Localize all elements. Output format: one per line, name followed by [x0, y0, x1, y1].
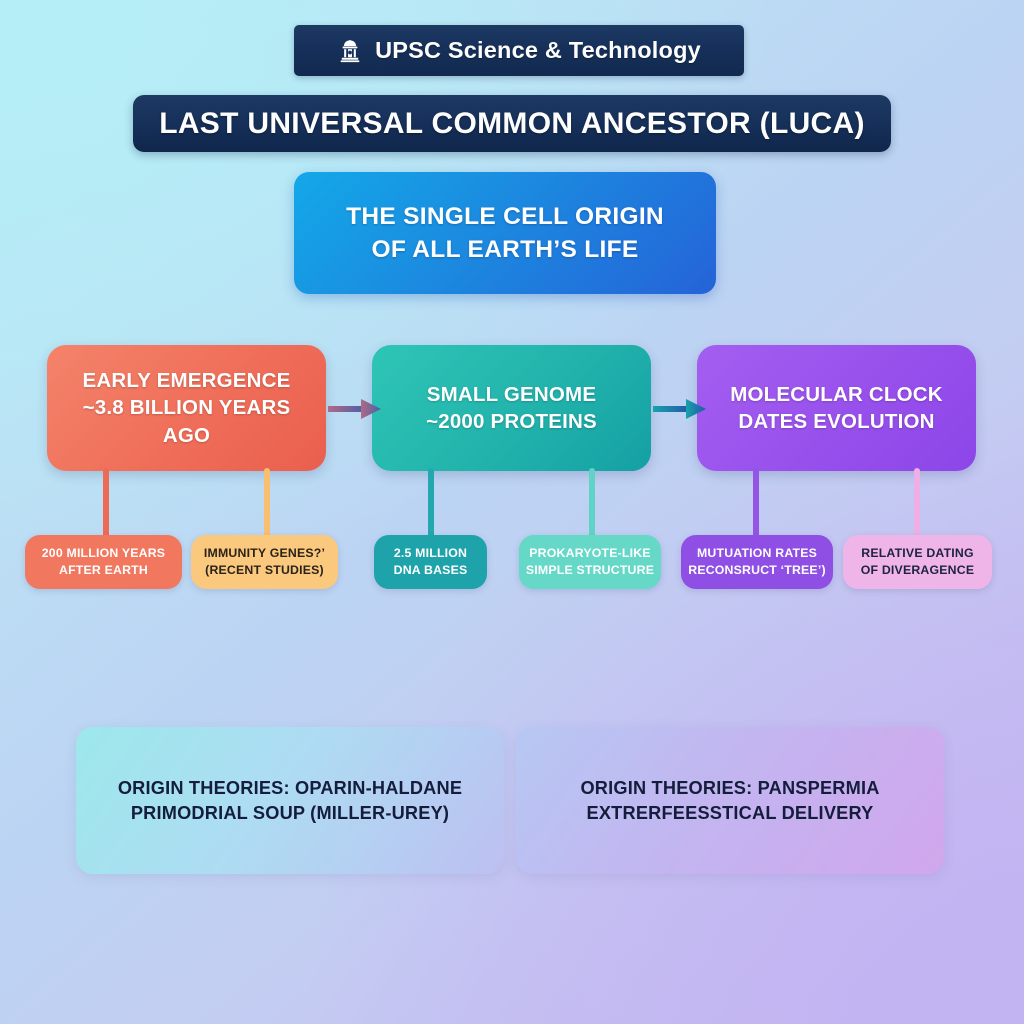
detail-card-mutation-rates[interactable]: MUTUATION RATES RECONSRUCT ‘TREE’) [681, 535, 833, 589]
arrow-stage-2-to-3 [653, 396, 708, 422]
main-title-text: LAST UNIVERSAL COMMON ANCESTOR (LUCA) [159, 107, 865, 141]
stage-line-2: ~3.8 BILLION YEARS [83, 394, 291, 421]
detail-line-1: IMMUNITY GENES?’ [204, 545, 325, 562]
detail-line-2: (RECENT STUDIES) [205, 562, 324, 579]
stem-detail-6 [914, 468, 920, 538]
theory-line-1: ORIGIN THEORIES: OPARIN-HALDANE [118, 778, 462, 799]
stem-detail-3 [428, 468, 434, 538]
subtitle-line-1: THE SINGLE CELL ORIGIN [346, 203, 664, 231]
detail-line-2: OF DIVERAGENCE [861, 562, 974, 579]
header-badge: UPSC Science & Technology [294, 25, 744, 76]
stage-line-1: EARLY EMERGENCE [82, 367, 290, 394]
detail-line-2: AFTER EARTH [59, 562, 148, 579]
theory-panel-oparin-haldane[interactable]: ORIGIN THEORIES: OPARIN-HALDANE PRIMODRI… [76, 727, 504, 874]
theory-line-2: EXTRERFEESSTICAL DELIVERY [587, 803, 874, 824]
subtitle-line-2: OF ALL EARTH’S LIFE [371, 236, 638, 264]
stem-detail-4 [589, 468, 595, 538]
stage-card-early-emergence[interactable]: EARLY EMERGENCE ~3.8 BILLION YEARS AGO [47, 345, 326, 471]
stage-line-2: ~2000 PROTEINS [426, 408, 597, 435]
detail-card-immunity-genes[interactable]: IMMUNITY GENES?’ (RECENT STUDIES) [191, 535, 338, 589]
theory-panel-panspermia[interactable]: ORIGIN THEORIES: PANSPERMIA EXTRERFEESST… [516, 727, 944, 874]
stem-detail-2 [264, 468, 270, 538]
stage-line-1: SMALL GENOME [427, 381, 596, 408]
detail-line-1: PROKARYOTE-LIKE [529, 545, 650, 562]
arrow-stage-1-to-2 [328, 396, 383, 422]
header-badge-label: UPSC Science & Technology [375, 37, 701, 64]
stage-line-2: DATES EVOLUTION [738, 408, 934, 435]
detail-card-prokaryote-like[interactable]: PROKARYOTE-LIKE SIMPLE STRUCTURE [519, 535, 661, 589]
theory-line-2: PRIMODRIAL SOUP (MILLER-UREY) [131, 803, 449, 824]
stage-line-3: AGO [163, 422, 210, 449]
detail-card-200-million-years[interactable]: 200 MILLION YEARS AFTER EARTH [25, 535, 182, 589]
subtitle-card: THE SINGLE CELL ORIGIN OF ALL EARTH’S LI… [294, 172, 716, 294]
detail-card-relative-dating[interactable]: RELATIVE DATING OF DIVERAGENCE [843, 535, 992, 589]
detail-line-2: RECONSRUCT ‘TREE’) [688, 562, 826, 579]
museum-building-icon [337, 38, 363, 64]
detail-line-2: SIMPLE STRUCTURE [526, 562, 654, 579]
stem-detail-5 [753, 468, 759, 538]
detail-line-1: 2.5 MILLION [394, 545, 467, 562]
detail-line-1: 200 MILLION YEARS [42, 545, 165, 562]
stage-line-1: MOLECULAR CLOCK [730, 381, 943, 408]
stage-card-small-genome[interactable]: SMALL GENOME ~2000 PROTEINS [372, 345, 651, 471]
detail-line-1: MUTUATION RATES [697, 545, 817, 562]
theory-line-1: ORIGIN THEORIES: PANSPERMIA [580, 778, 879, 799]
infographic-canvas: UPSC Science & Technology LAST UNIVERSAL… [0, 0, 1024, 1024]
main-title-banner: LAST UNIVERSAL COMMON ANCESTOR (LUCA) [133, 95, 891, 152]
stage-card-molecular-clock[interactable]: MOLECULAR CLOCK DATES EVOLUTION [697, 345, 976, 471]
detail-line-2: DNA BASES [394, 562, 468, 579]
detail-card-dna-bases[interactable]: 2.5 MILLION DNA BASES [374, 535, 487, 589]
stem-detail-1 [103, 468, 109, 538]
detail-line-1: RELATIVE DATING [861, 545, 974, 562]
